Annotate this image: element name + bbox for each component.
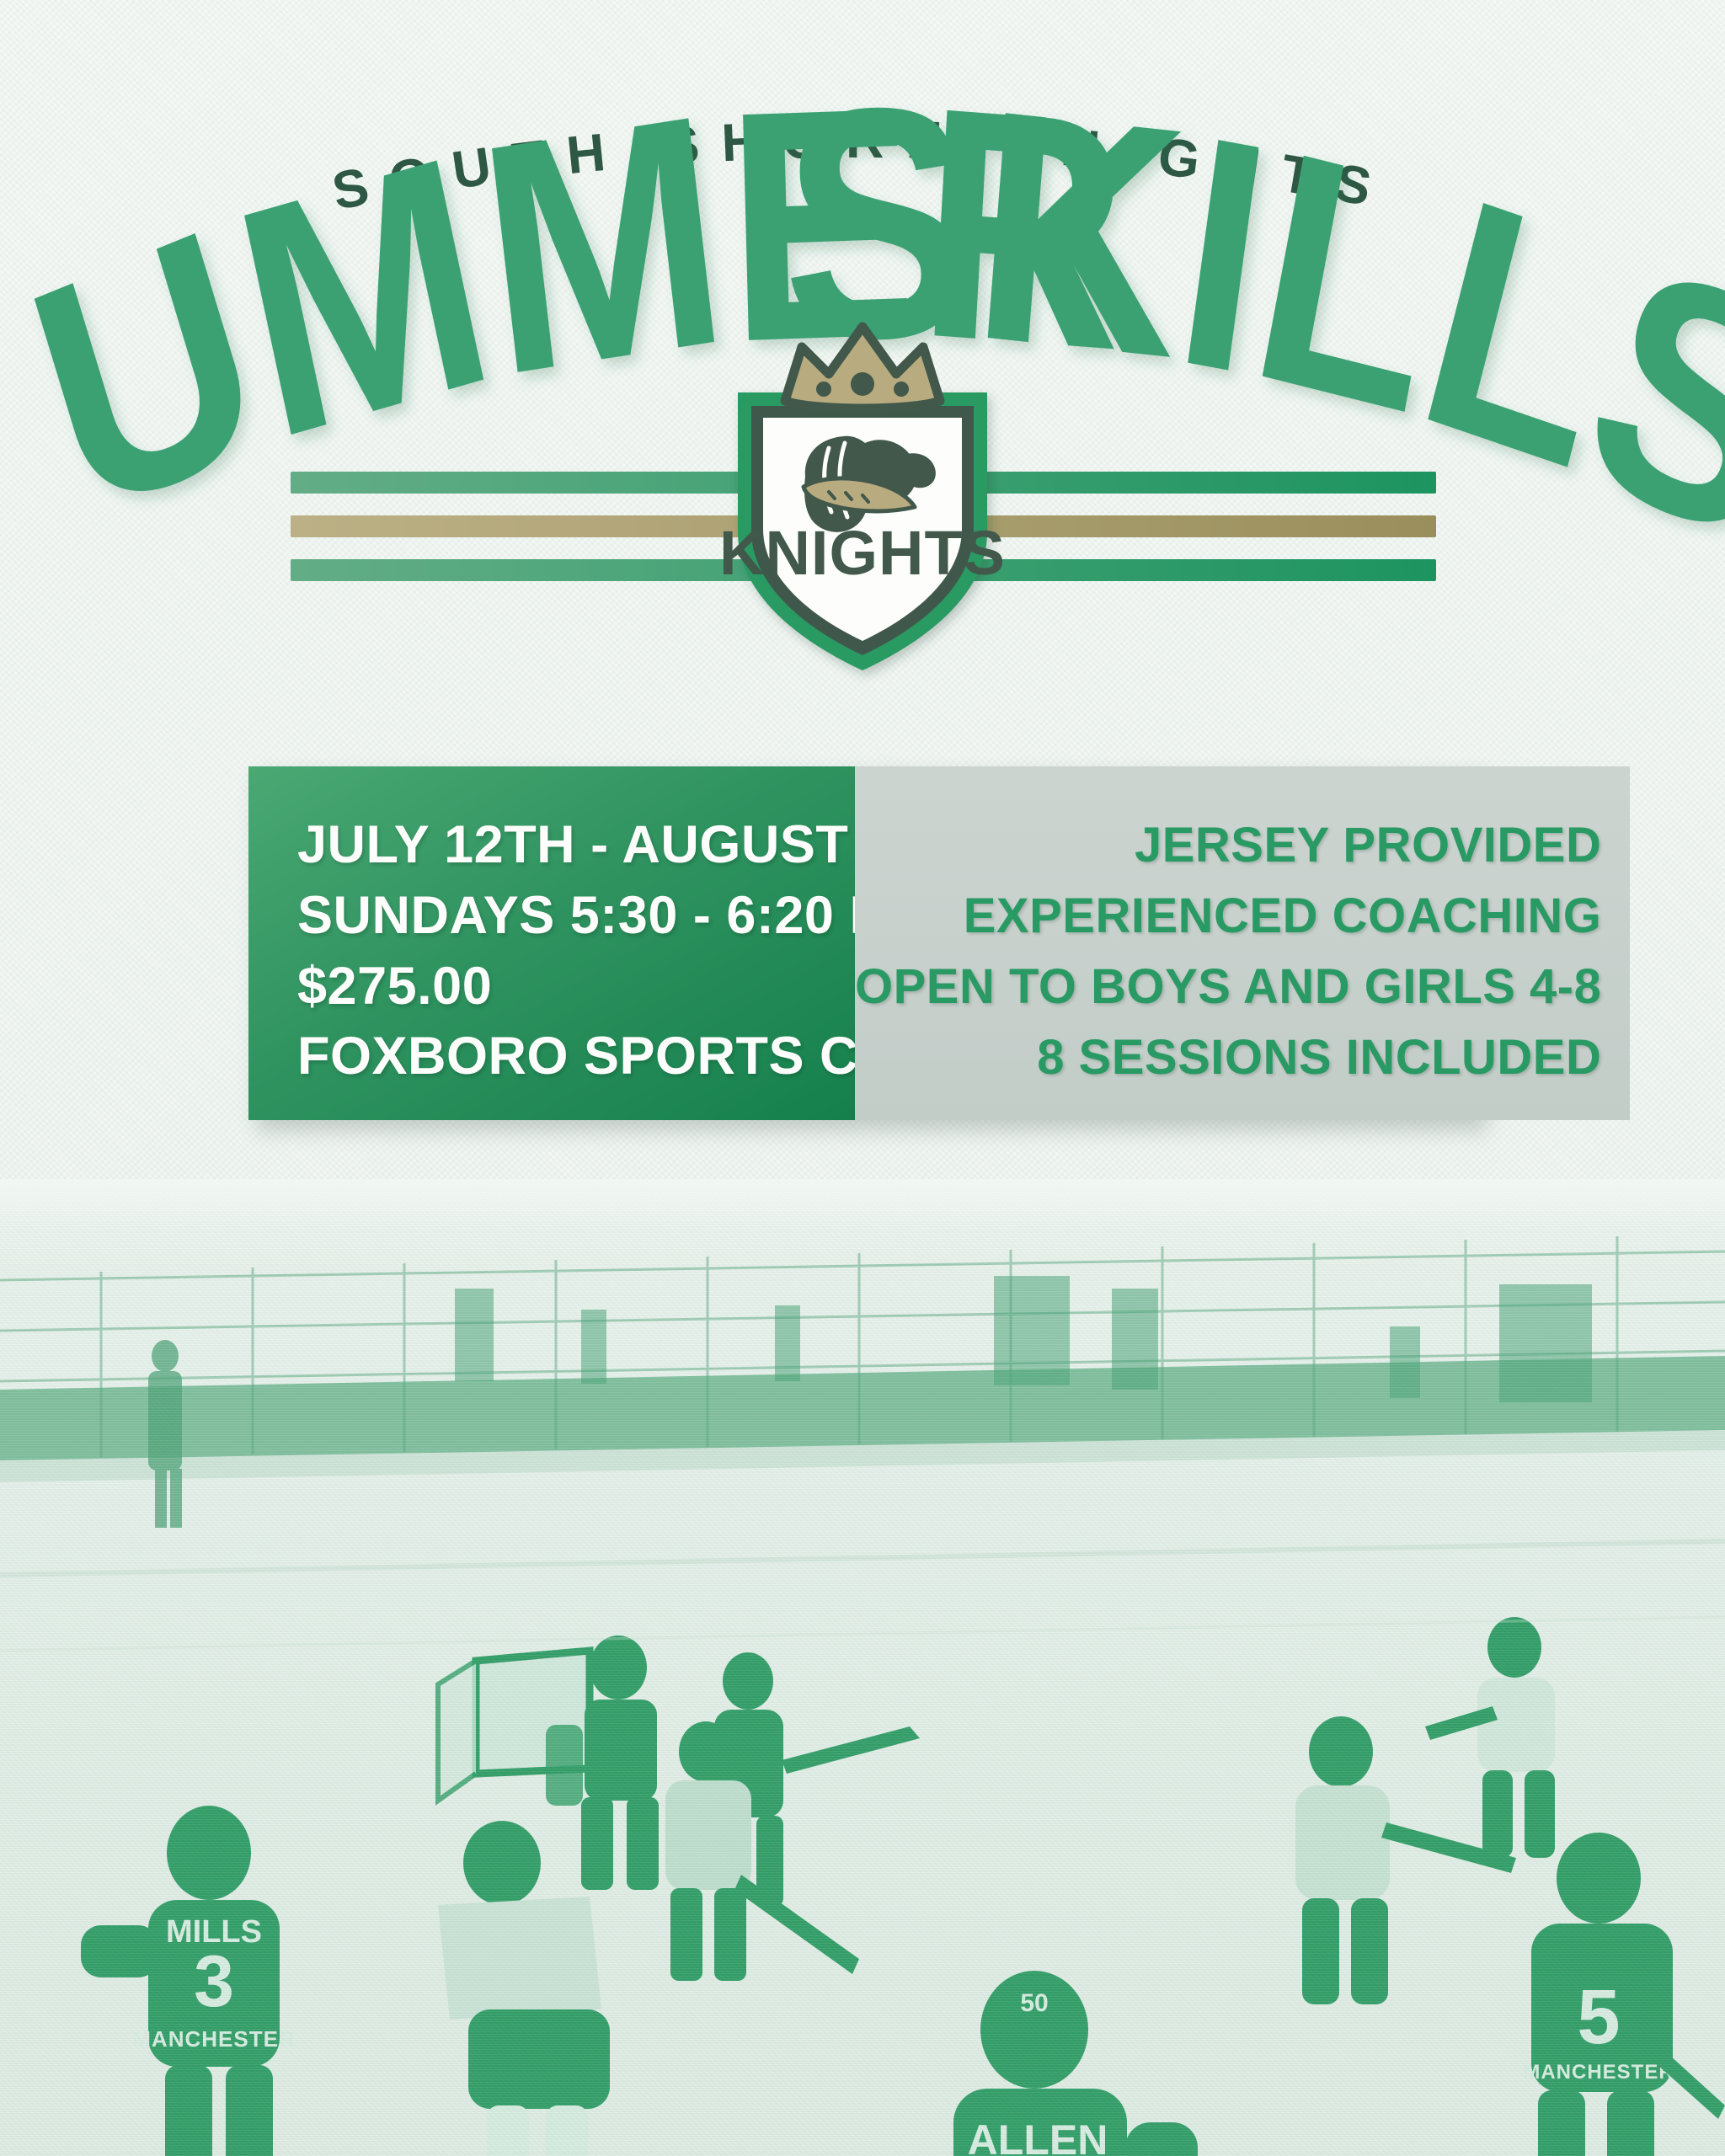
jersey-number-five: 5 <box>1577 1974 1620 2060</box>
jersey-team-mills: MANCHESTER <box>132 2026 295 2052</box>
crest-wordmark: KNIGHTS <box>719 518 1006 588</box>
detail-price: $275.00 <box>297 952 855 1022</box>
poster-header: SOUTH SHORE KNIGHTS SUMMER SKIL <box>0 0 1725 758</box>
crown-jewel-left <box>816 382 831 397</box>
crown-jewel-center <box>851 372 874 396</box>
jersey-number-allen: 50 <box>982 2153 1092 2156</box>
knights-crest-logo: KNIGHTS <box>702 312 1023 682</box>
crown-jewel-right <box>894 382 909 397</box>
poster-canvas: SOUTH SHORE KNIGHTS SUMMER SKIL <box>0 0 1725 2156</box>
jersey-name-allen: ALLEN <box>968 2116 1108 2156</box>
rink-photo: MILLS 3 MANCHESTER 50 <box>0 1179 1725 2156</box>
jersey-number-mills: 3 <box>194 1941 234 2022</box>
helmet-decal-number: 50 <box>1020 1989 1048 2017</box>
detail-dates: JULY 12TH - AUGUST 26TH <box>297 810 855 881</box>
crown-icon <box>785 327 940 408</box>
detail-times: SUNDAYS 5:30 - 6:20 PM <box>297 881 855 952</box>
info-panels: JULY 12TH - AUGUST 26TH SUNDAYS 5:30 - 6… <box>248 766 1478 1120</box>
details-panel: JULY 12TH - AUGUST 26TH SUNDAYS 5:30 - 6… <box>248 766 855 1120</box>
feature-coaching: EXPERIENCED COACHING <box>964 881 1602 952</box>
feature-jersey: JERSEY PROVIDED <box>1135 810 1601 881</box>
detail-location: FOXBORO SPORTS CENTER <box>297 1022 855 1092</box>
feature-sessions: 8 SESSIONS INCLUDED <box>1037 1022 1601 1093</box>
jersey-team-five: MANCHESTER <box>1523 2061 1674 2084</box>
feature-ages: OPEN TO BOYS AND GIRLS 4-8 <box>855 952 1601 1022</box>
features-panel: JERSEY PROVIDED EXPERIENCED COACHING OPE… <box>855 766 1630 1120</box>
